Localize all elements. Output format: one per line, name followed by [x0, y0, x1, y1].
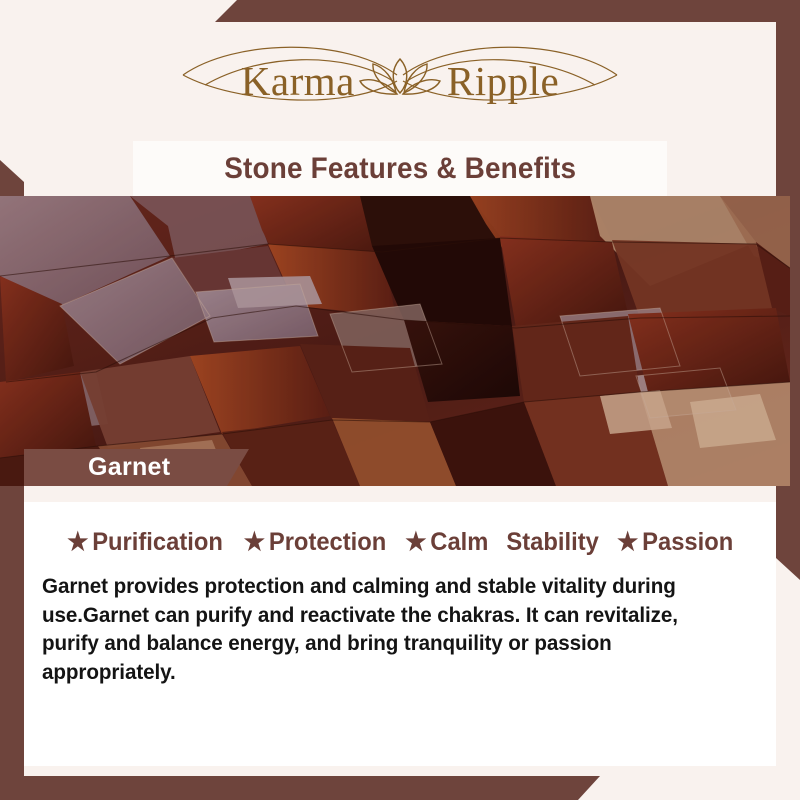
feature-label: Calm: [431, 528, 489, 557]
star-icon: ★: [406, 530, 427, 555]
feature-item-calm: ★Calm: [406, 528, 489, 557]
feature-label: Protection: [269, 528, 386, 557]
stone-photo: [0, 196, 790, 486]
feature-label: Purification: [93, 528, 224, 557]
brand-name-right: Ripple: [447, 57, 559, 105]
frame-bottom-bar: [0, 776, 600, 800]
star-icon: ★: [244, 530, 265, 555]
stone-name-label: Garnet: [24, 449, 249, 486]
page-title: Stone Features & Benefits: [224, 152, 576, 186]
poster-root: Karma Ripple Stone Features & Benefits: [0, 0, 800, 800]
title-panel: Stone Features & Benefits: [133, 141, 667, 196]
feature-label: Stability: [506, 528, 598, 557]
stone-name-text: Garnet: [24, 453, 170, 482]
feature-label: Passion: [642, 528, 733, 557]
star-icon: ★: [617, 530, 638, 555]
feature-list: ★Purification★Protection★Calm★Stability★…: [24, 528, 776, 557]
brand-name-left: Karma: [241, 57, 355, 105]
content-card: ★Purification★Protection★Calm★Stability★…: [24, 486, 776, 766]
garnet-crystal-cluster-image: [0, 196, 790, 486]
content-top-divider: [24, 486, 776, 502]
feature-item-passion: ★Passion: [617, 528, 733, 557]
star-icon: ★: [68, 530, 89, 555]
brand-header: Karma Ripple: [0, 22, 800, 140]
description-text: Garnet provides protection and calming a…: [42, 572, 729, 686]
feature-item-stability: ★Stability: [506, 528, 598, 557]
feature-item-purification: ★Purification: [68, 528, 224, 557]
frame-top-bar: [215, 0, 800, 22]
feature-item-protection: ★Protection: [244, 528, 387, 557]
